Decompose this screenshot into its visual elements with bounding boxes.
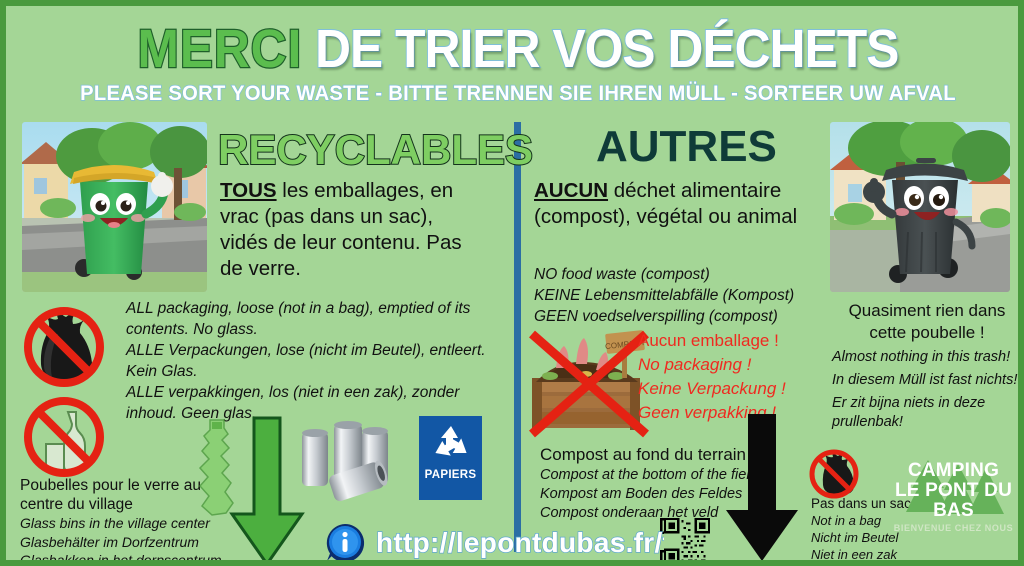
aluminium-cans-icon bbox=[298, 418, 408, 513]
trash-caption-de: In diesem Müll ist fast nichts! bbox=[832, 371, 1022, 390]
papiers-label: PAPIERS bbox=[425, 469, 477, 481]
heading-recyclables: RECYCLABLES bbox=[218, 126, 533, 174]
page-title: MERCI DE TRIER VOS DÉCHETS bbox=[47, 20, 989, 78]
no-packaging-de: Keine Verpackung ! bbox=[638, 377, 786, 401]
poster-header: MERCI DE TRIER VOS DÉCHETS PLEASE SORT Y… bbox=[6, 20, 1024, 106]
trash-amount-caption: Quasiment rien dans cette poubelle ! Alm… bbox=[832, 300, 1022, 432]
no-packaging-en: No packaging ! bbox=[638, 353, 786, 377]
autres-bold-word: AUCUN bbox=[534, 179, 608, 202]
glass-caption-de: Glasbehälter im Dorfzentrum bbox=[20, 533, 235, 552]
title-rest: DE TRIER VOS DÉCHETS bbox=[315, 19, 898, 79]
column-divider bbox=[514, 122, 521, 552]
green-bin-photo bbox=[22, 122, 207, 292]
no-packaging-warning: Aucun emballage ! No packaging ! Keine V… bbox=[638, 329, 786, 425]
website-url-bar[interactable]: http://lepontdubas.fr/tri bbox=[324, 522, 691, 564]
no-plastic-bag-icon bbox=[18, 306, 110, 393]
recyclables-translation-en: ALL packaging, loose (not in a bag), emp… bbox=[126, 298, 506, 340]
poster-root: MERCI DE TRIER VOS DÉCHETS PLEASE SORT Y… bbox=[0, 0, 1024, 566]
recyclables-translations: ALL packaging, loose (not in a bag), emp… bbox=[126, 298, 506, 424]
autres-main-text: AUCUN déchet alimentaire (compost), végé… bbox=[534, 178, 804, 230]
title-accent: MERCI bbox=[138, 19, 303, 79]
autres-translation-en: NO food waste (compost) bbox=[534, 264, 824, 285]
logo-line-1: CAMPING bbox=[886, 461, 1021, 481]
info-icon bbox=[324, 522, 366, 564]
recyclables-main-text: TOUS les emballages, en vrac (pas dans u… bbox=[220, 178, 470, 282]
recyclables-bold-word: TOUS bbox=[220, 179, 277, 202]
logo-tagline: BIENVENUE CHEZ NOUS bbox=[886, 523, 1021, 533]
autres-translation-de: KEINE Lebensmittelabfälle (Kompost) bbox=[534, 285, 824, 306]
no-glass-bottle-icon bbox=[18, 396, 110, 483]
trash-caption-fr: Quasiment rien dans cette poubelle ! bbox=[832, 300, 1022, 344]
website-url[interactable]: http://lepontdubas.fr/tri bbox=[376, 527, 691, 559]
green-down-arrow bbox=[228, 416, 306, 566]
black-down-arrow bbox=[722, 414, 802, 566]
papiers-recycling-badge: PAPIERS bbox=[419, 416, 482, 500]
dark-bin-photo bbox=[830, 122, 1010, 292]
qr-code-icon-url[interactable] bbox=[664, 518, 710, 566]
logo-line-2: LE PONT DU BAS bbox=[886, 481, 1021, 521]
page-subtitle: PLEASE SORT YOUR WASTE - BITTE TRENNEN S… bbox=[26, 82, 1009, 106]
autres-translations: NO food waste (compost) KEINE Lebensmitt… bbox=[534, 264, 824, 327]
recycle-icon bbox=[427, 421, 475, 467]
glass-caption-nl: Glasbakken in het dorpscentrum bbox=[20, 551, 235, 566]
recyclables-translation-de: ALLE Verpackungen, lose (nicht im Beutel… bbox=[126, 340, 506, 382]
no-packaging-fr: Aucun emballage ! bbox=[638, 329, 786, 353]
no-bag-nl: Niet in een zak bbox=[811, 546, 921, 563]
heading-autres: AUTRES bbox=[596, 122, 777, 172]
camping-logo: CAMPING LE PONT DU BAS BIENVENUE CHEZ NO… bbox=[886, 461, 1021, 533]
trash-caption-nl: Er zit bijna niets in deze prullenbak! bbox=[832, 394, 1022, 432]
trash-caption-en: Almost nothing in this trash! bbox=[832, 348, 1022, 367]
no-compost-icon: COMPOST bbox=[524, 324, 654, 444]
